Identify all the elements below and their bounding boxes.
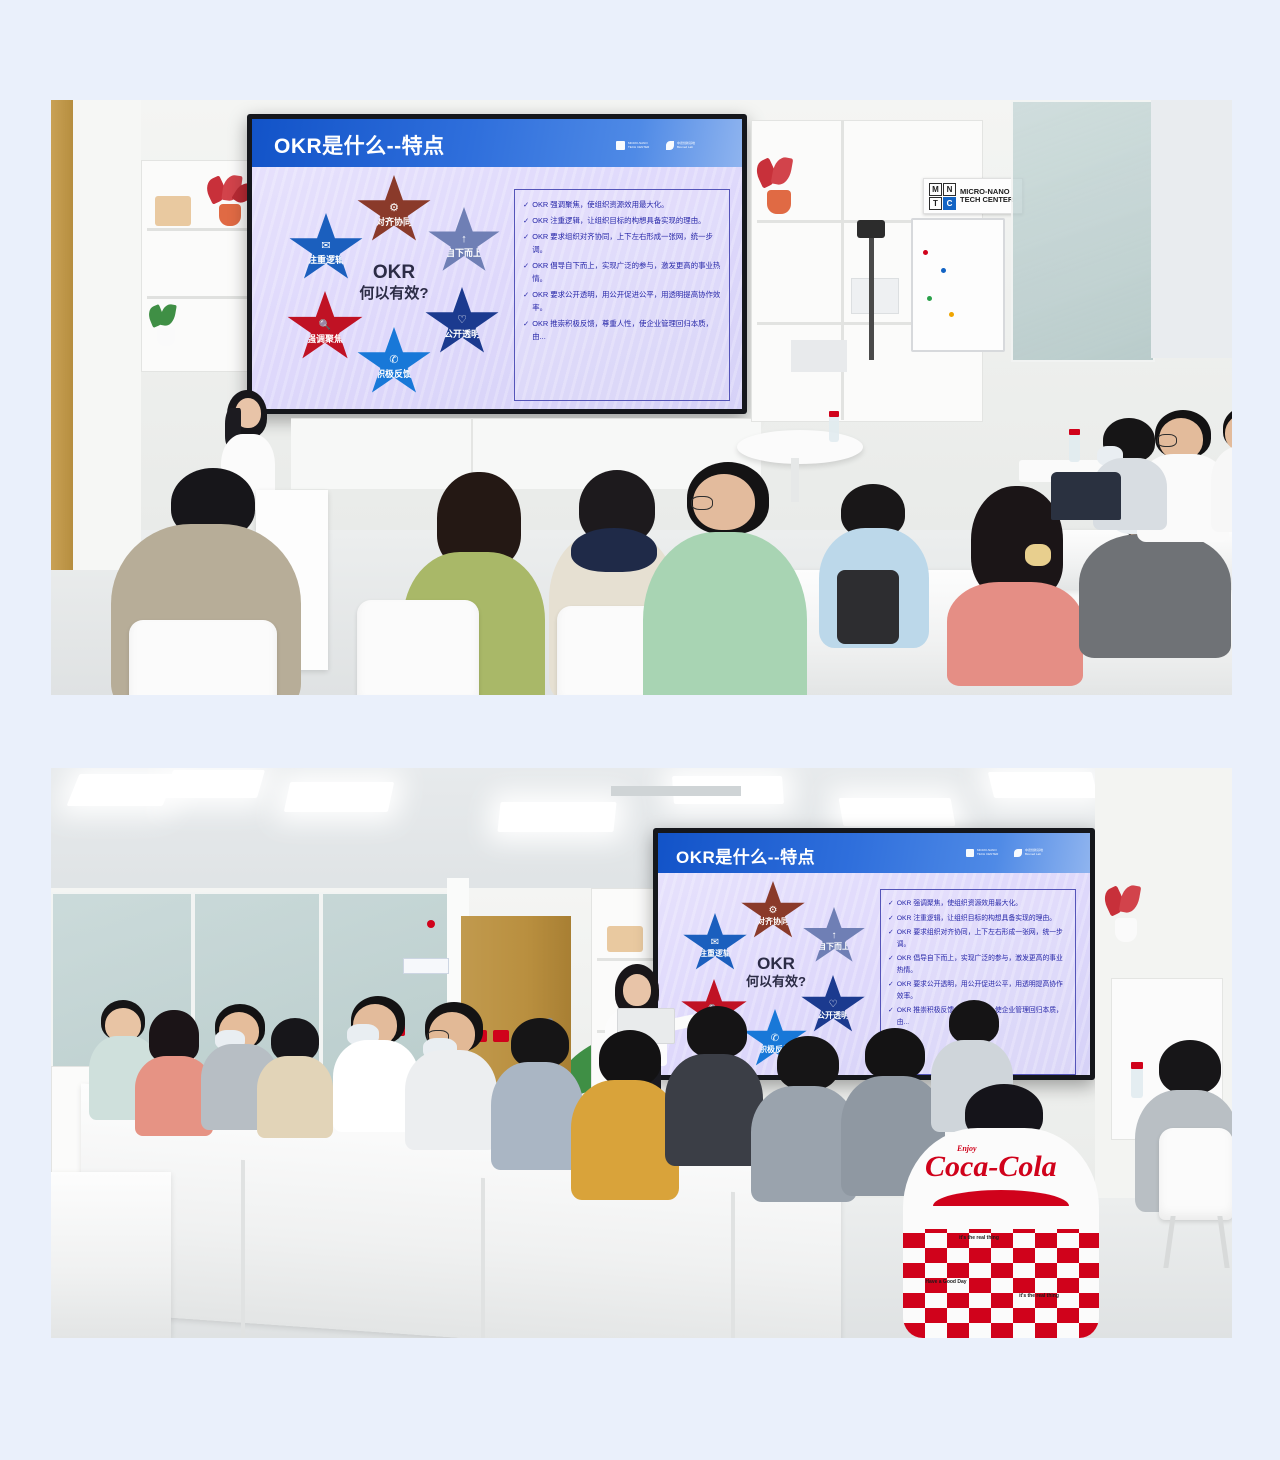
coca-cola-jacket: Enjoy Coca-Cola it's the real thing Have… [903,1128,1099,1338]
bullet-item: ✓ OKR 要求组织对齐协同，上下左右形成一张网，统一步调。 [523,231,721,257]
camera-head [857,220,885,238]
attendee-coca-cola-jacket: Enjoy Coca-Cola it's the real thing Have… [903,1084,1099,1338]
shelf-box-item [607,926,643,952]
table-seam [241,1160,245,1338]
slide-surface: OKR是什么--特点 MICRO-NANO TECH CENTER 中德创新基地… [252,119,742,409]
mntc-letter-c: C [943,197,956,210]
whiteboard-magnet [941,268,946,273]
bullet-text: OKR 倡导自下而上，实现广泛的参与，激发更高的事业热情。 [532,260,721,286]
jacket-tag: Have a Good Day [925,1280,967,1285]
shelf-divider [841,120,844,420]
plant-green-shelf [147,306,187,348]
center-line-1: OKR [736,953,816,974]
ceiling-light-panel [839,798,956,826]
attendee-mint-shirt [643,462,807,695]
hair-clip [1025,544,1051,566]
mntc-line-2: TECH CENTER [960,196,1013,204]
wall-sign-small [403,958,449,974]
bullet-text: OKR 注重逻辑，让组织目标的构想具备实现的理由。 [897,913,1068,925]
bullet-text: OKR 倡导自下而上，实现广泛的参与，激发更高的事业热情。 [897,953,1068,976]
chair-white-1 [129,620,277,695]
logo-line-2: Biomed Lab [1025,853,1043,857]
photo-bottom-room-wide: OKR是什么--特点 MICRO-NANO TECH CENTER 中德创新基地… [51,768,1232,1338]
chair-white-right [1159,1128,1232,1220]
bullet-text: OKR 推崇积极反馈，尊重人性，使企业管理回归本质，由... [532,318,721,344]
bullet-text: OKR 要求组织对齐协同，上下左右形成一张网，统一步调。 [532,231,721,257]
whiteboard-magnet [923,250,928,255]
mntc-letter-t: T [929,197,942,210]
check-icon: ✓ [523,318,529,344]
presentation-screen: OKR是什么--特点 MICRO-NANO TECH CENTER 中德创新基地… [247,114,747,414]
center-line-1: OKR [350,261,438,285]
ceiling-light-panel [988,772,1098,798]
attendee-mustard-shirt [571,1030,679,1198]
check-icon: ✓ [523,215,529,228]
bullet-text: OKR 注重逻辑，让组织目标的构想具备实现的理由。 [532,215,721,228]
wall-wood-trim [51,100,73,570]
ceiling-light-panel [165,770,265,798]
long-table-left-end [51,1172,171,1338]
water-bottle [1069,434,1080,462]
table-seam [731,1192,735,1338]
check-icon: ✓ [888,913,894,925]
laptop [1051,472,1121,520]
bottle-cap [1069,429,1080,435]
partner-lab-logo: 中德创新基地 Biomed Lab [1014,849,1043,857]
water-bottle [829,416,839,442]
check-icon: ✓ [888,927,894,950]
attendee-back-6 [405,1002,497,1148]
check-icon: ✓ [888,953,894,976]
micro-nano-tech-center-logo: MICRO-NANO TECH CENTER [966,849,998,857]
ceiling-light-panel [67,774,176,806]
check-icon: ✓ [523,231,529,257]
mntc-letter-n: N [943,183,956,196]
plant-red-right [751,160,807,222]
check-icon: ✓ [523,260,529,286]
table-seam [481,1178,485,1338]
jacket-swoosh [933,1190,1069,1206]
check-icon: ✓ [888,979,894,1002]
attendee-white-shirt-2 [1211,406,1232,530]
slide-title: OKR是什么--特点 [676,843,815,868]
shelf-box-item [155,196,191,226]
smoke-detector-icon [427,920,435,928]
glass-partition-right [1011,100,1155,362]
jacket-tag: it's the real thing [959,1236,999,1241]
center-line-2: 何以有效? [350,285,438,304]
attendee-back-4 [257,1018,333,1136]
slide-bullet-box: ✓ OKR 强调聚焦，使组织资源效用最大化。 ✓ OKR 注重逻辑，让组织目标的… [514,189,730,401]
jacket-tag: it's the real thing [1019,1294,1059,1299]
bullet-item: ✓ OKR 要求公开透明，用公开促进公平，用透明提高协作效率。 [523,289,721,315]
bullet-item: ✓ OKR 推崇积极反馈，尊重人性，使企业管理回归本质，由... [523,318,721,344]
logo-line-2: TECH CENTER [977,853,998,857]
attendee-back-8 [665,1006,763,1164]
check-icon: ✓ [888,1005,894,1028]
bullet-item: ✓ OKR 要求组织对齐协同，上下左右形成一张网，统一步调。 [888,927,1068,950]
ceiling-light-panel [284,782,394,812]
ceiling-light-panel [497,802,616,832]
bullet-item: ✓ OKR 要求公开透明，用公开促进公平，用透明提高协作效率。 [888,979,1068,1002]
bullet-item: ✓ OKR 强调聚焦，使组织资源效用最大化。 [888,898,1068,910]
camera-stand-pole [869,230,874,360]
star-label: 强调聚焦 [307,332,343,345]
round-table-1 [737,430,863,464]
slide-title: OKR是什么--特点 [274,130,445,160]
bottle-cap [829,411,839,417]
plant-red-right-bottom [1099,888,1157,952]
bullet-text: OKR 强调聚焦，使组织资源效用最大化。 [897,898,1068,910]
glasses-icon [691,496,713,510]
bullet-item: ✓ OKR 注重逻辑，让组织目标的构想具备实现的理由。 [888,913,1068,925]
partner-lab-logo: 中德创新基地 Biomed Lab [666,141,695,150]
shelf-divider [147,296,255,299]
bullet-item: ✓ OKR 强调聚焦，使组织资源效用最大化。 [523,199,721,212]
check-icon: ✓ [523,289,529,315]
whiteboard [911,218,1005,352]
bullet-item: ✓ OKR 注重逻辑，让组织目标的构想具备实现的理由。 [523,215,721,228]
bullet-item: ✓ OKR 倡导自下而上，实现广泛的参与，激发更高的事业热情。 [523,260,721,286]
whiteboard-magnet [949,312,954,317]
chair-white-2 [357,600,479,695]
check-icon: ✓ [523,199,529,212]
mntc-letter-grid: M N T C [929,183,956,210]
bullet-text: OKR 要求组织对齐协同，上下左右形成一张网，统一步调。 [897,927,1068,950]
mntc-letter-m: M [929,183,942,196]
logo-line-2: Biomed Lab [677,146,695,150]
shelf-frame-item [851,278,899,314]
check-icon: ✓ [888,898,894,910]
shelf-books [791,340,847,372]
attendee-back-7 [491,1018,583,1168]
mntc-wall-sign: M N T C MICRO-NANO TECH CENTER [923,178,1023,214]
center-line-2: 何以有效? [736,974,816,990]
slide-center-label: OKR 何以有效? [350,261,438,304]
logo-line-2: TECH CENTER [628,146,649,150]
mntc-wordmark: MICRO-NANO TECH CENTER [960,188,1013,205]
photo-top-seminar-closeup: OKR是什么--特点 MICRO-NANO TECH CENTER 中德创新基地… [51,100,1232,695]
wall-far-right [1151,100,1232,358]
slide-center-label: OKR 何以有效? [736,953,816,991]
bullet-text: OKR 要求公开透明，用公开促进公平，用透明提高协作效率。 [532,289,721,315]
micro-nano-tech-center-logo: MICRO-NANO TECH CENTER [616,141,649,150]
whiteboard-magnet [927,296,932,301]
jacket-wordmark: Coca-Cola [925,1150,1057,1184]
attendee-legs [837,570,899,644]
bullet-text: OKR 强调聚焦，使组织资源效用最大化。 [532,199,721,212]
ceiling-vent [611,786,741,796]
bullet-text: OKR 要求公开透明，用公开促进公平，用透明提高协作效率。 [897,979,1068,1002]
bullet-item: ✓ OKR 倡导自下而上，实现广泛的参与，激发更高的事业热情。 [888,953,1068,976]
poster-page: OKR是什么--特点 MICRO-NANO TECH CENTER 中德创新基地… [0,0,1280,1460]
